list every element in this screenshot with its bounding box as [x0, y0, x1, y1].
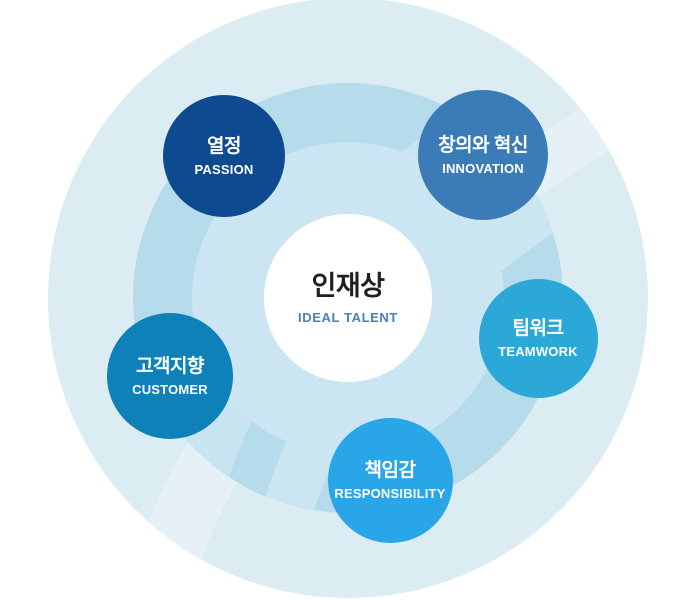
node-label-en: INNOVATION: [442, 162, 524, 175]
node-label-ko: 고객지향: [136, 357, 204, 376]
node-customer[interactable]: 고객지향 CUSTOMER: [107, 313, 233, 439]
node-responsibility[interactable]: 책임감 RESPONSIBILITY: [328, 418, 453, 543]
node-label-en: CUSTOMER: [132, 383, 208, 396]
node-passion[interactable]: 열정 PASSION: [163, 95, 285, 217]
ideal-talent-diagram: 인재상 IDEAL TALENT 열정 PASSION 창의와 혁신 INNOV…: [0, 0, 700, 600]
center-title-ko: 인재상: [311, 273, 384, 300]
node-label-ko: 팀워크: [513, 319, 564, 338]
center-hub: 인재상 IDEAL TALENT: [264, 214, 432, 382]
node-label-ko: 창의와 혁신: [438, 136, 528, 155]
node-label-en: PASSION: [195, 163, 254, 176]
node-innovation[interactable]: 창의와 혁신 INNOVATION: [418, 90, 548, 220]
center-title-en: IDEAL TALENT: [298, 311, 398, 324]
node-label-ko: 열정: [207, 137, 241, 156]
node-label-ko: 책임감: [365, 461, 416, 480]
node-teamwork[interactable]: 팀워크 TEAMWORK: [479, 279, 598, 398]
node-label-en: RESPONSIBILITY: [334, 487, 445, 500]
node-label-en: TEAMWORK: [498, 345, 578, 358]
